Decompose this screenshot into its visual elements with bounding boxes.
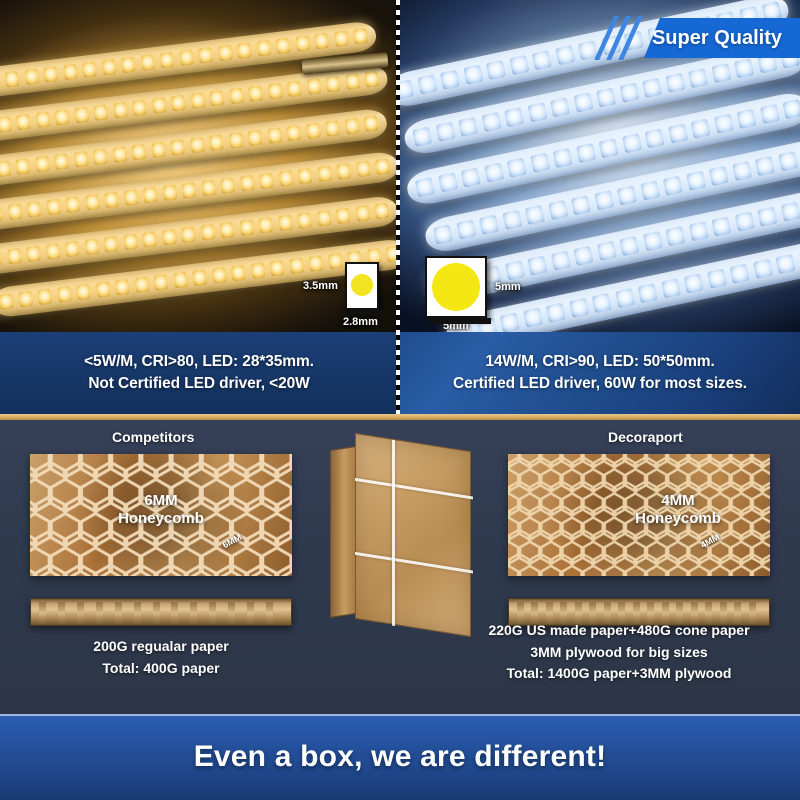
led-dot [63, 64, 78, 80]
led-dot [665, 226, 685, 246]
decoraport-honeycomb-label: 4MM Honeycomb [592, 492, 764, 528]
strip-flute [171, 602, 178, 624]
led-dot [530, 153, 550, 173]
led-dot [571, 195, 591, 215]
led-dot [440, 70, 460, 90]
led-dot [546, 303, 566, 323]
competitor-desc-line-1: 200G regualar paper [30, 636, 292, 658]
led-dot [642, 78, 662, 98]
competitor-spec-line-1: <5W/M, CRI>80, LED: 28*35mm. [84, 351, 314, 373]
gold-divider [0, 414, 800, 420]
led-dot [200, 224, 215, 240]
spec-bar-row: <5W/M, CRI>80, LED: 28*35mm. Not Certifi… [0, 332, 800, 414]
strip-flute [77, 602, 84, 624]
led-dot [532, 50, 552, 70]
led-dot [250, 262, 265, 278]
led-dot [502, 210, 522, 230]
decoraport-honeycomb-word: Honeycomb [592, 510, 764, 528]
led-dot [0, 161, 11, 177]
led-dot [504, 260, 524, 280]
led-dot [162, 229, 177, 245]
strip-flute [115, 602, 122, 624]
led-dot [642, 231, 662, 251]
led-dot [734, 58, 754, 78]
led-chip-large-icon [425, 256, 487, 318]
led-dot [550, 251, 570, 271]
led-dot [507, 158, 527, 178]
led-dot [154, 274, 169, 290]
led-dot [638, 283, 658, 303]
led-dot [104, 236, 119, 252]
led-dot [573, 92, 593, 112]
led-dot [65, 196, 80, 212]
led-dot [0, 250, 2, 266]
led-dot [220, 177, 235, 193]
competitor-led-strip-photo [0, 0, 398, 332]
competitor-chip-height-label: 3.5mm [303, 280, 338, 292]
competitor-spec-panel: <5W/M, CRI>80, LED: 28*35mm. Not Certifi… [0, 332, 398, 414]
led-dot [690, 119, 710, 139]
led-dot [345, 73, 360, 89]
led-dot [417, 74, 437, 94]
led-dot [259, 173, 274, 189]
led-dot [134, 277, 149, 293]
strip-flute [96, 602, 103, 624]
competitor-honeycomb-word: Honeycomb [30, 510, 292, 528]
led-dot [325, 120, 340, 136]
ribbon-slashes-icon [600, 18, 644, 58]
led-dot [663, 176, 683, 196]
led-dot [181, 227, 196, 243]
led-dot [298, 168, 313, 184]
led-dot [615, 288, 635, 308]
strip-flute [266, 602, 273, 624]
led-dot [43, 66, 58, 82]
led-dot [82, 61, 97, 77]
led-chip-base [349, 310, 383, 315]
led-dot [140, 54, 155, 70]
decoraport-description: 220G US made paper+480G cone paper 3MM p… [452, 620, 786, 685]
led-dot [95, 281, 110, 297]
led-dot [220, 222, 235, 238]
led-dot [550, 97, 570, 117]
decoraport-column-title: Decoraport [608, 429, 683, 445]
led-dot [668, 123, 688, 143]
competitor-honeycomb-panel: 6MM Honeycomb 6MM [30, 454, 292, 576]
led-dot [306, 123, 321, 139]
led-dot [0, 293, 13, 309]
led-dot [619, 236, 639, 256]
led-chip-small-icon [345, 262, 379, 310]
led-dot [412, 127, 432, 147]
led-dot [599, 138, 619, 158]
led-dot [297, 212, 312, 228]
led-dot [622, 133, 642, 153]
packaging-comparison-section: Competitors Decoraport 6MM [0, 420, 800, 714]
led-dot [24, 68, 39, 84]
led-dot [461, 167, 481, 187]
led-dot [276, 38, 291, 54]
led-dot [258, 217, 273, 233]
led-dot [123, 189, 138, 205]
led-dot [237, 42, 252, 58]
competitor-desc-line-2: Total: 400G paper [30, 658, 292, 680]
led-dot [182, 182, 197, 198]
led-dot [316, 210, 331, 226]
led-dot [192, 269, 207, 285]
led-dot [101, 59, 116, 75]
carton-tape-h2 [355, 552, 473, 574]
product-photo-row: 3.5mm 2.8mm 5mm 5mm Super Quality [0, 0, 800, 332]
led-dot [306, 78, 321, 94]
competitor-board-edge-strip [30, 598, 292, 626]
led-dot [173, 272, 188, 288]
led-dot [267, 127, 282, 143]
led-dot [435, 122, 455, 142]
led-dot [190, 137, 205, 153]
led-dot [228, 132, 243, 148]
led-dot [18, 291, 33, 307]
led-chip-base [429, 318, 491, 324]
led-dot [76, 284, 91, 300]
led-dot [104, 192, 119, 208]
led-dot [143, 187, 158, 203]
led-dot [278, 170, 293, 186]
led-dot [46, 199, 61, 215]
led-dot [463, 65, 483, 85]
led-dot [730, 264, 750, 284]
decoraport-spec-panel: 14W/M, CRI>90, LED: 50*50mm. Certified L… [400, 332, 800, 414]
decoraport-chip-height-label: 5mm [495, 281, 521, 293]
led-dot [74, 107, 89, 123]
led-dot [231, 265, 246, 281]
led-dot [484, 163, 504, 183]
super-quality-badge: Super Quality [600, 18, 800, 58]
led-dot [527, 102, 547, 122]
strip-flute [134, 602, 141, 624]
led-dot [355, 205, 370, 221]
carton-front-face [355, 433, 471, 637]
led-dot [364, 115, 379, 131]
led-dot [132, 144, 147, 160]
led-dot [210, 90, 225, 106]
led-dot [256, 40, 271, 56]
led-dot [151, 142, 166, 158]
led-dot [732, 161, 752, 181]
led-dot [201, 180, 216, 196]
competitor-led-chip-callout [345, 262, 379, 310]
led-dot [734, 211, 754, 231]
led-dot [248, 130, 263, 146]
led-dot [121, 57, 136, 73]
led-dot [619, 83, 639, 103]
led-dot [523, 308, 543, 328]
led-dot [7, 248, 22, 264]
footer-headline: Even a box, we are different! [194, 740, 607, 774]
shipping-carton-illustration [330, 442, 470, 632]
led-dot [548, 200, 568, 220]
led-dot [314, 33, 329, 49]
led-dot [15, 158, 30, 174]
led-dot [782, 99, 800, 119]
carton-tape-h1 [355, 478, 473, 500]
led-dot [73, 151, 88, 167]
led-dot [65, 241, 80, 257]
led-dot [336, 208, 351, 224]
led-dot [433, 224, 453, 244]
led-dot [364, 71, 379, 87]
led-dot [665, 73, 685, 93]
led-dot [0, 116, 11, 132]
led-dot [661, 278, 681, 298]
led-dot [113, 102, 128, 118]
led-dot [55, 109, 70, 125]
led-dot [711, 216, 731, 236]
led-dot [596, 88, 616, 108]
led-dot [688, 68, 708, 88]
led-dot [415, 177, 435, 197]
led-dot [278, 215, 293, 231]
led-dot [711, 63, 731, 83]
led-dot [481, 112, 501, 132]
decoraport-spec-line-1: 14W/M, CRI>90, LED: 50*50mm. [485, 351, 714, 373]
led-dot [775, 254, 795, 274]
led-dot [218, 45, 233, 61]
led-dot [286, 125, 301, 141]
led-dot [640, 180, 660, 200]
footer-banner: Even a box, we are different! [0, 714, 800, 800]
decoraport-honeycomb-panel: 4MM Honeycomb 4MM [508, 454, 770, 576]
led-dot [317, 165, 332, 181]
led-dot [84, 238, 99, 254]
strip-flute [247, 602, 254, 624]
led-dot [356, 161, 371, 177]
led-dot [594, 190, 614, 210]
led-dot [295, 35, 310, 51]
led-dot [592, 293, 612, 313]
led-dot [688, 221, 708, 241]
led-dot [344, 118, 359, 134]
led-dot [596, 241, 616, 261]
led-dot [569, 298, 589, 318]
led-dot [171, 95, 186, 111]
led-dot [755, 156, 775, 176]
led-dot [438, 172, 458, 192]
led-dot [240, 175, 255, 191]
led-dot [326, 76, 341, 92]
vertical-dotted-divider [396, 0, 400, 414]
decoraport-desc-line-1: 220G US made paper+480G cone paper [452, 620, 786, 642]
competitors-column-title: Competitors [112, 429, 194, 445]
led-dot [289, 258, 304, 274]
led-dot [780, 202, 800, 222]
led-dot [736, 109, 756, 129]
led-dot [576, 143, 596, 163]
led-dot [132, 100, 147, 116]
led-dot [239, 219, 254, 235]
led-dot [229, 88, 244, 104]
led-dot [0, 206, 3, 222]
led-dot [617, 185, 637, 205]
led-dot [458, 117, 478, 137]
led-dot [375, 158, 390, 174]
led-dot [509, 55, 529, 75]
strip-flute [153, 602, 160, 624]
led-dot [35, 111, 50, 127]
led-dot [778, 151, 798, 171]
led-dot [198, 47, 213, 63]
led-dot [555, 45, 575, 65]
decoraport-honeycomb-size: 4MM [592, 492, 764, 510]
led-dot [684, 273, 704, 293]
footer-top-rule [0, 714, 800, 716]
strip-flute [228, 602, 235, 624]
competitor-honeycomb-label: 6MM Honeycomb [30, 492, 292, 528]
led-dot [142, 231, 157, 247]
led-dot [16, 114, 31, 130]
competitor-chip-width-label: 2.8mm [343, 316, 378, 328]
led-dot [27, 201, 42, 217]
decoraport-desc-line-2: 3MM plywood for big sizes [452, 642, 786, 664]
led-dot [553, 148, 573, 168]
led-dot [123, 234, 138, 250]
led-dot [190, 92, 205, 108]
led-dot [26, 246, 41, 262]
led-dot [328, 253, 343, 269]
led-dot [374, 203, 389, 219]
led-dot [162, 184, 177, 200]
led-dot [54, 153, 69, 169]
led-dot [759, 104, 779, 124]
led-dot [334, 30, 349, 46]
ribbon-body: Super Quality [644, 18, 800, 58]
led-dot [268, 83, 283, 99]
led-dot [400, 79, 414, 99]
led-dot [486, 60, 506, 80]
decoraport-led-chip-callout [425, 256, 487, 318]
strip-flute [190, 602, 197, 624]
carton-tape-v1 [392, 440, 395, 626]
led-dot [525, 205, 545, 225]
carton-side-face [330, 446, 356, 618]
led-dot [93, 149, 108, 165]
led-dot [709, 166, 729, 186]
led-dot [752, 259, 772, 279]
led-dot [37, 288, 52, 304]
led-dot [336, 163, 351, 179]
led-dot [112, 146, 127, 162]
led-dot [57, 286, 72, 302]
led-dot [115, 279, 130, 295]
competitor-description: 200G regualar paper Total: 400G paper [30, 636, 292, 679]
led-dot [713, 114, 733, 134]
led-dot [353, 28, 368, 44]
led-dot [35, 156, 50, 172]
competitor-spec-line-2: Not Certified LED driver, <20W [88, 373, 309, 395]
decoraport-spec-line-2: Certified LED driver, 60W for most sizes… [453, 373, 747, 395]
led-dot [93, 104, 108, 120]
super-quality-label: Super Quality [652, 27, 782, 50]
led-dot [645, 128, 665, 148]
led-dot [686, 171, 706, 191]
strip-flute [39, 602, 46, 624]
led-dot [757, 207, 777, 227]
led-dot [270, 260, 285, 276]
led-dot [45, 243, 60, 259]
led-dot [573, 246, 593, 266]
led-dot [504, 107, 524, 127]
led-dot [5, 71, 20, 87]
led-dot [500, 312, 520, 332]
led-dot [308, 255, 323, 271]
led-dot [248, 85, 263, 101]
led-dot [209, 134, 224, 150]
strip-flute [209, 602, 216, 624]
led-dot [212, 267, 227, 283]
led-dot [159, 52, 174, 68]
promo-infographic: 3.5mm 2.8mm 5mm 5mm Super Quality <5W/M,… [0, 0, 800, 800]
led-dot [179, 49, 194, 65]
competitor-honeycomb-size: 6MM [30, 492, 292, 510]
led-dot [287, 81, 302, 97]
led-dot [456, 220, 476, 240]
led-dot [7, 204, 22, 220]
decoraport-desc-line-3: Total: 1400G paper+3MM plywood [452, 663, 786, 685]
led-dot [479, 215, 499, 235]
led-dot [170, 139, 185, 155]
led-dot [527, 255, 547, 275]
strip-flute [58, 602, 65, 624]
led-dot [707, 268, 727, 288]
led-dot [85, 194, 100, 210]
led-dot [151, 97, 166, 113]
